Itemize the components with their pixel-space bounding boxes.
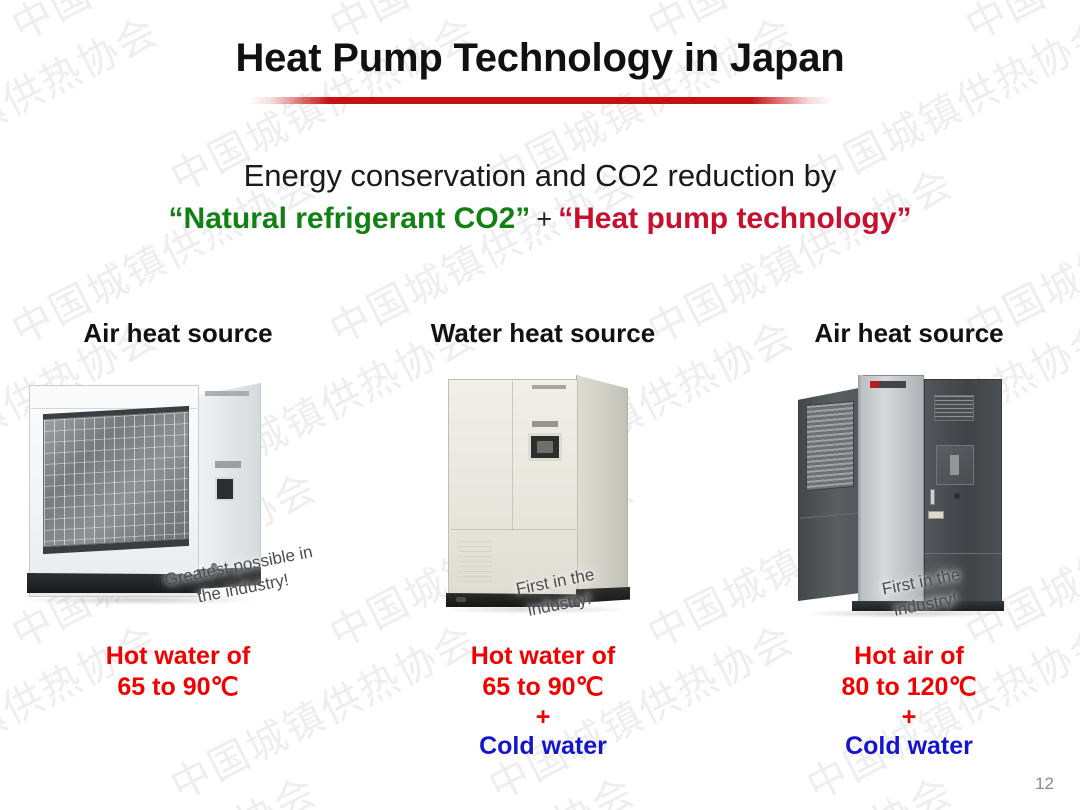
column-air-heat-source-left: Air heat source Greatest possible in t	[13, 318, 343, 704]
product-photo: First in the industry!	[744, 363, 1074, 633]
title-divider	[248, 97, 833, 104]
page-title: Heat Pump Technology in Japan	[0, 36, 1080, 81]
unit-door-handle	[930, 489, 935, 505]
caption-hot-output: Hot water of 65 to 90℃	[13, 641, 343, 704]
unit-brand-logo	[215, 461, 241, 468]
unit-vertical-seam	[512, 381, 513, 531]
unit-control-display	[537, 441, 553, 453]
caption-hot-output: Hot water of 65 to 90℃	[378, 641, 708, 704]
subtitle-line-1: Energy conservation and CO2 reduction by	[0, 158, 1080, 194]
product-photo: Greatest possible in the industry!	[13, 363, 343, 633]
caption-hot-output: Hot air of 80 to 120℃	[744, 641, 1074, 704]
caption-cold-output: Cold water	[378, 731, 708, 762]
unit-indicator	[954, 493, 960, 499]
unit-side-label	[205, 391, 249, 396]
column-caption: Hot water of 65 to 90℃	[13, 641, 343, 704]
unit-panel-seam	[924, 553, 1002, 554]
column-air-heat-source-right: Air heat source First in the	[744, 318, 1074, 762]
unit-louver-vent	[806, 401, 854, 491]
unit-control-box	[215, 477, 235, 501]
page-number: 12	[1035, 774, 1054, 794]
unit-front-door	[858, 375, 924, 605]
caption-plus: +	[378, 704, 708, 732]
column-heading: Water heat source	[378, 318, 708, 349]
caption-plus: +	[744, 704, 1074, 732]
unit-horizontal-seam	[450, 529, 576, 530]
unit-nameplate-tag	[928, 511, 944, 519]
column-caption: Hot water of 65 to 90℃ + Cold water	[378, 641, 708, 762]
unit-model-label	[532, 385, 566, 389]
column-heading: Air heat source	[13, 318, 343, 349]
unit-brand-logo	[870, 381, 906, 388]
unit-foot-left	[456, 597, 466, 602]
column-water-heat-source: Water heat source First in the industry!	[378, 318, 708, 762]
unit-front-edge	[858, 375, 863, 605]
subtitle-line-2: “Natural refrigerant CO2”+“Heat pump tec…	[0, 202, 1080, 236]
column-caption: Hot air of 80 to 120℃ + Cold water	[744, 641, 1074, 762]
unit-heat-exchanger-grille	[43, 411, 189, 547]
slide-canvas: Heat Pump Technology in Japan Energy con…	[0, 0, 1080, 810]
caption-cold-output: Cold water	[744, 731, 1074, 762]
keyword-heat-pump-technology: “Heat pump technology”	[558, 202, 911, 235]
keyword-natural-refrigerant: “Natural refrigerant CO2”	[169, 202, 531, 235]
column-heading: Air heat source	[744, 318, 1074, 349]
product-photo: First in the industry!	[378, 363, 708, 633]
subtitle-plus-sign: +	[530, 204, 558, 234]
unit-access-plate	[950, 455, 959, 475]
unit-lower-vents	[458, 541, 492, 583]
unit-top-vent-grille	[934, 395, 974, 421]
unit-brand-logo	[532, 421, 558, 427]
